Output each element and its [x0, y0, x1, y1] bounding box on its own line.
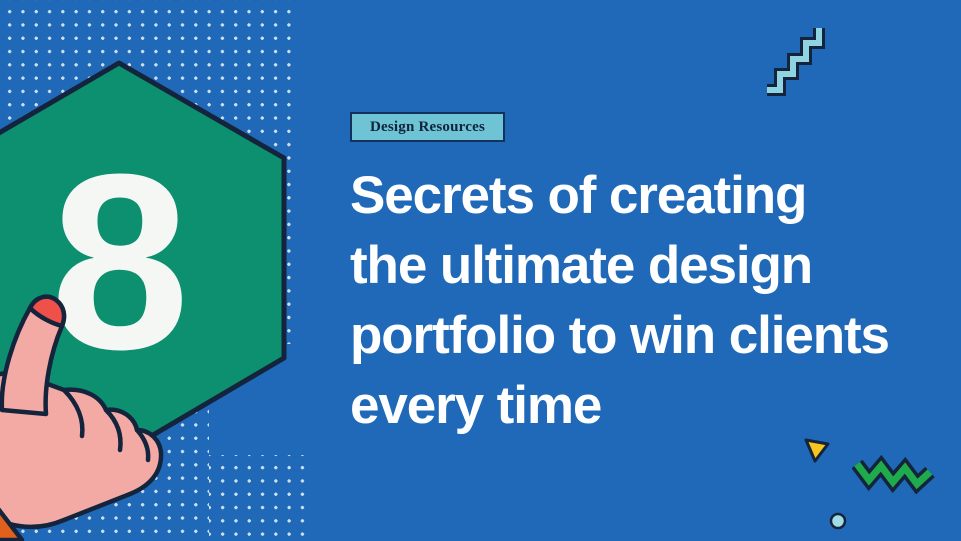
zigzag-green-icon — [852, 450, 938, 505]
category-badge[interactable]: Design Resources — [350, 112, 505, 142]
slide-canvas: 8 — [0, 0, 961, 541]
content-column: Design Resources Secrets of creating the… — [350, 112, 910, 441]
circle-teal-icon — [828, 511, 848, 536]
zigzag-teal-icon — [762, 22, 828, 103]
triangle-yellow-icon — [802, 435, 832, 470]
hexagon-hand-illustration: 8 — [0, 58, 324, 541]
hexagon-number-eight: 8 — [50, 122, 189, 401]
category-badge-label: Design Resources — [370, 119, 485, 135]
page-title: Secrets of creating the ultimate design … — [350, 161, 895, 441]
